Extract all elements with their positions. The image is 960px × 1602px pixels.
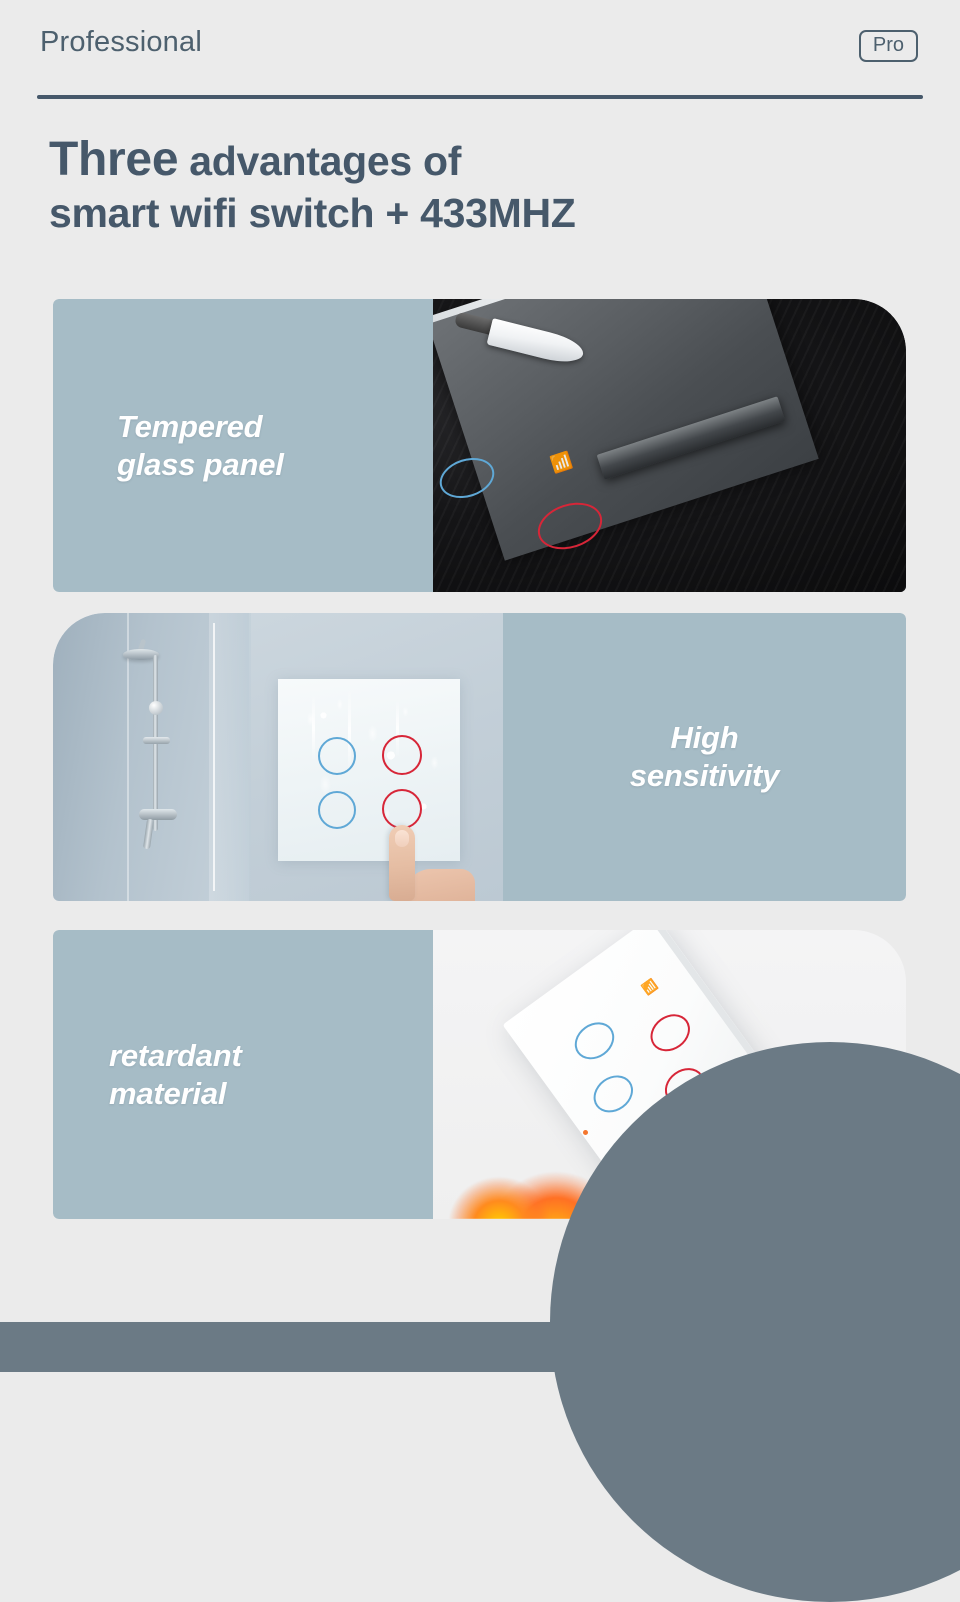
header-divider — [37, 95, 923, 99]
feature-card-tempered-glass: Tempered glass panel 📶 — [53, 299, 906, 592]
hand-shape — [405, 869, 475, 901]
headline-emphasis: Three — [49, 133, 178, 186]
headline-rest: advantages of — [178, 138, 461, 184]
feature-card-3-label: retardant material — [53, 1037, 433, 1113]
water-streak — [312, 695, 315, 761]
water-droplets — [278, 679, 460, 861]
feature-card-1-label-panel: Tempered glass panel — [53, 299, 433, 592]
feature-card-3-label-line1: retardant — [109, 1037, 433, 1075]
shower-door-frame-line — [213, 623, 215, 891]
feature-card-2-label-line2: sensitivity — [529, 757, 880, 795]
glass-shower-door — [209, 613, 251, 901]
shower-slide-joint — [149, 701, 163, 715]
blue-indicator-ring-icon — [318, 737, 356, 775]
page-title: Professional — [40, 28, 202, 57]
headline: Three advantages of smart wifi switch + … — [49, 132, 909, 237]
feature-card-2-label-panel: High sensitivity — [503, 613, 906, 901]
red-indicator-ring-icon — [382, 735, 422, 775]
feature-card-3-label-panel: retardant material — [53, 930, 433, 1219]
headline-line-1: Three advantages of — [49, 132, 909, 189]
ember-spark — [583, 1130, 588, 1135]
shower-mixer-valve — [139, 809, 177, 820]
feature-card-3-label-line2: material — [109, 1075, 433, 1113]
page-header: Professional Pro — [0, 0, 960, 100]
wet-shower-switch-finger-touch-photo — [53, 613, 503, 901]
headline-line-2: smart wifi switch + 433MHZ — [49, 189, 909, 237]
knife-scratching-dark-glass-switch-photo: 📶 — [433, 299, 906, 592]
wet-touch-switch-panel — [278, 679, 460, 861]
red-indicator-ring-icon — [382, 789, 422, 829]
blue-indicator-ring-icon — [318, 791, 356, 829]
feature-card-1-label-line2: glass panel — [117, 446, 433, 484]
footer-bar — [0, 1322, 960, 1372]
shower-handset-holder — [143, 737, 170, 744]
feature-card-2-label: High sensitivity — [503, 719, 906, 795]
feature-card-1-label: Tempered glass panel — [53, 408, 433, 484]
feature-card-2-label-line1: High — [529, 719, 880, 757]
fingernail — [395, 830, 409, 847]
pro-badge: Pro — [859, 30, 918, 62]
feature-card-high-sensitivity: High sensitivity — [53, 613, 906, 901]
feature-card-1-label-line1: Tempered — [117, 408, 433, 446]
